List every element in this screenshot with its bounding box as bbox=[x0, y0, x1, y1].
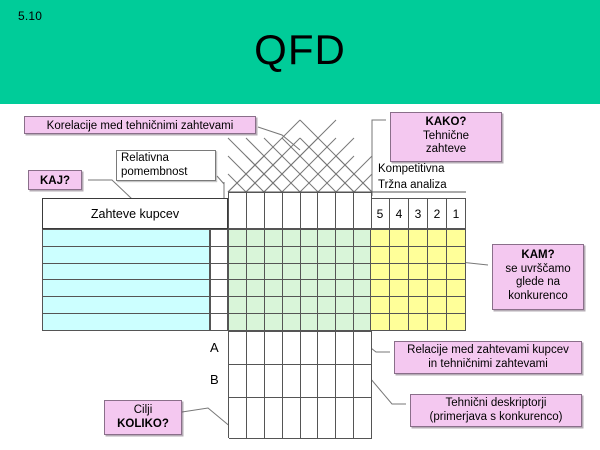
relationship-cell[interactable] bbox=[265, 247, 283, 264]
relationship-cell[interactable] bbox=[318, 314, 336, 331]
tech-col-header-cell bbox=[354, 193, 372, 229]
customer-row[interactable] bbox=[43, 280, 210, 297]
competitive-cell[interactable] bbox=[447, 297, 466, 314]
competitive-cell[interactable] bbox=[409, 230, 428, 247]
relationship-cell[interactable] bbox=[336, 264, 354, 281]
customer-requirements-label: Zahteve kupcev bbox=[91, 207, 179, 221]
relationship-cell[interactable] bbox=[283, 264, 301, 281]
callout-what-label: KAJ? bbox=[40, 175, 70, 187]
relationship-cell[interactable] bbox=[336, 314, 354, 331]
competitive-cell[interactable] bbox=[428, 314, 447, 331]
relationship-cell[interactable] bbox=[247, 264, 265, 281]
descriptor-cell[interactable] bbox=[354, 365, 372, 398]
callout-where-line2: se uvrščamo bbox=[498, 263, 578, 277]
competitive-cell[interactable] bbox=[390, 297, 409, 314]
competitive-cell[interactable] bbox=[371, 280, 390, 297]
customer-row[interactable] bbox=[43, 297, 210, 314]
relationship-cell[interactable] bbox=[247, 314, 265, 331]
market-analysis-line1: Kompetitivna bbox=[378, 162, 444, 176]
relationship-cell[interactable] bbox=[301, 280, 319, 297]
tech-col-header-cell bbox=[336, 193, 354, 229]
relationship-cell[interactable] bbox=[265, 297, 283, 314]
callout-how-line1: KAKO? bbox=[396, 116, 496, 130]
relationship-cell[interactable] bbox=[301, 314, 319, 331]
relationship-matrix[interactable] bbox=[228, 229, 372, 331]
relationship-cell[interactable] bbox=[301, 247, 319, 264]
descriptor-cell[interactable] bbox=[265, 398, 283, 439]
customer-row[interactable] bbox=[43, 314, 210, 331]
descriptor-cell[interactable] bbox=[336, 332, 354, 365]
competitive-cell[interactable] bbox=[447, 264, 466, 281]
descriptor-cell[interactable] bbox=[318, 398, 336, 439]
descriptor-cell[interactable] bbox=[229, 365, 247, 398]
descriptor-cell[interactable] bbox=[229, 398, 247, 439]
competitive-cell[interactable] bbox=[428, 280, 447, 297]
competitive-cell[interactable] bbox=[447, 247, 466, 264]
callout-correlations-label: Korelacije med tehničnimi zahtevami bbox=[47, 120, 234, 132]
callout-descriptors-line2: (primerjava s konkurenco) bbox=[416, 411, 576, 425]
relationship-cell[interactable] bbox=[336, 280, 354, 297]
competitive-cell[interactable] bbox=[409, 247, 428, 264]
descriptor-cell[interactable] bbox=[283, 398, 301, 439]
competitive-cell[interactable] bbox=[390, 264, 409, 281]
relative-importance-line1: Relativna bbox=[121, 152, 211, 166]
competitive-cell[interactable] bbox=[371, 264, 390, 281]
descriptor-cell[interactable] bbox=[354, 398, 372, 439]
importance-cell[interactable] bbox=[211, 280, 228, 297]
page-title: QFD bbox=[0, 26, 600, 74]
callout-how[interactable]: KAKO? Tehnične zahteve bbox=[390, 112, 502, 162]
relative-importance-line2: pomembnost bbox=[121, 166, 211, 180]
rating-cell: 4 bbox=[390, 199, 409, 229]
competitive-cell[interactable] bbox=[447, 230, 466, 247]
rating-cell: 3 bbox=[409, 199, 428, 229]
descriptor-cell[interactable] bbox=[354, 332, 372, 365]
competitive-cell[interactable] bbox=[428, 297, 447, 314]
relationship-cell[interactable] bbox=[318, 264, 336, 281]
callout-goals[interactable]: Cilji KOLIKO? bbox=[104, 400, 182, 435]
tech-col-header-cell bbox=[301, 193, 319, 229]
relationship-cell[interactable] bbox=[229, 280, 247, 297]
callout-goals-line2: KOLIKO? bbox=[110, 418, 176, 432]
callout-descriptors[interactable]: Tehnični deskriptorji (primerjava s konk… bbox=[410, 394, 582, 427]
competitive-cell[interactable] bbox=[428, 247, 447, 264]
callout-relations-line2: in tehničnimi zahtevami bbox=[400, 358, 576, 372]
competitive-cell[interactable] bbox=[409, 314, 428, 331]
relationship-cell[interactable] bbox=[247, 297, 265, 314]
competitive-cell[interactable] bbox=[409, 280, 428, 297]
descriptor-cell[interactable] bbox=[318, 332, 336, 365]
relationship-cell[interactable] bbox=[229, 297, 247, 314]
descriptor-cell[interactable] bbox=[247, 398, 265, 439]
rating-cell: 2 bbox=[428, 199, 447, 229]
relationship-cell[interactable] bbox=[265, 264, 283, 281]
callout-relations-line1: Relacije med zahtevami kupcev bbox=[400, 344, 576, 358]
callout-where[interactable]: KAM? se uvrščamo glede na konkurenco bbox=[492, 244, 584, 310]
descriptor-cell[interactable] bbox=[336, 365, 354, 398]
customer-row[interactable] bbox=[43, 264, 210, 281]
relationship-cell[interactable] bbox=[283, 230, 301, 247]
slide-number: 5.10 bbox=[18, 9, 42, 23]
relationship-cell[interactable] bbox=[318, 230, 336, 247]
relationship-cell[interactable] bbox=[318, 297, 336, 314]
rating-cell: 5 bbox=[371, 199, 390, 229]
competitive-cell[interactable] bbox=[409, 264, 428, 281]
relationship-cell[interactable] bbox=[247, 247, 265, 264]
descriptor-cell[interactable] bbox=[283, 365, 301, 398]
callout-where-line3: glede na bbox=[498, 276, 578, 290]
competitive-cell[interactable] bbox=[371, 247, 390, 264]
callout-descriptors-line1: Tehnični deskriptorji bbox=[416, 397, 576, 411]
callout-correlations[interactable]: Korelacije med tehničnimi zahtevami bbox=[24, 116, 256, 134]
relationship-cell[interactable] bbox=[283, 280, 301, 297]
descriptor-cell[interactable] bbox=[301, 398, 319, 439]
descriptor-cell[interactable] bbox=[336, 398, 354, 439]
importance-cell[interactable] bbox=[211, 264, 228, 281]
competitive-cell[interactable] bbox=[428, 264, 447, 281]
competitive-cell[interactable] bbox=[371, 314, 390, 331]
relationship-cell[interactable] bbox=[283, 314, 301, 331]
relationship-cell[interactable] bbox=[265, 230, 283, 247]
competitive-cell[interactable] bbox=[390, 230, 409, 247]
competitive-assessment-matrix[interactable] bbox=[370, 229, 466, 331]
callout-relative-importance[interactable]: Relativna pomembnost bbox=[116, 150, 216, 181]
customer-row[interactable] bbox=[43, 230, 210, 247]
relative-importance-column-header bbox=[210, 198, 228, 229]
competitive-cell[interactable] bbox=[428, 230, 447, 247]
descriptor-cell[interactable] bbox=[301, 365, 319, 398]
relationship-cell[interactable] bbox=[229, 247, 247, 264]
relationship-cell[interactable] bbox=[229, 314, 247, 331]
callout-goals-line1: Cilji bbox=[110, 404, 176, 418]
tech-col-header-cell bbox=[265, 193, 283, 229]
competitive-cell[interactable] bbox=[390, 247, 409, 264]
callout-where-line4: konkurenco bbox=[498, 290, 578, 304]
descriptor-cell[interactable] bbox=[301, 332, 319, 365]
competitive-cell[interactable] bbox=[371, 297, 390, 314]
relationship-cell[interactable] bbox=[283, 247, 301, 264]
relationship-cell[interactable] bbox=[336, 230, 354, 247]
relationship-cell[interactable] bbox=[247, 280, 265, 297]
tech-col-header-cell bbox=[283, 193, 301, 229]
customer-row[interactable] bbox=[43, 247, 210, 264]
descriptor-cell[interactable] bbox=[318, 365, 336, 398]
bottom-row-label-b: B bbox=[210, 372, 219, 387]
importance-cell[interactable] bbox=[211, 230, 228, 247]
descriptor-cell[interactable] bbox=[247, 332, 265, 365]
relationship-cell[interactable] bbox=[229, 230, 247, 247]
callout-what[interactable]: KAJ? bbox=[28, 170, 82, 190]
callout-relations[interactable]: Relacije med zahtevami kupcev in tehničn… bbox=[394, 341, 582, 374]
importance-cell[interactable] bbox=[211, 314, 228, 331]
importance-cell[interactable] bbox=[211, 247, 228, 264]
customer-requirements-rows[interactable] bbox=[42, 229, 210, 331]
competitive-cell[interactable] bbox=[371, 230, 390, 247]
relationship-cell[interactable] bbox=[318, 247, 336, 264]
descriptor-cell[interactable] bbox=[265, 365, 283, 398]
relationship-cell[interactable] bbox=[318, 280, 336, 297]
rating-cell: 1 bbox=[447, 199, 466, 229]
tech-col-header-cell bbox=[229, 193, 247, 229]
competitive-cell[interactable] bbox=[447, 314, 466, 331]
competitive-cell[interactable] bbox=[409, 297, 428, 314]
technical-descriptors-grid[interactable] bbox=[228, 331, 372, 438]
relative-importance-column[interactable] bbox=[210, 229, 228, 331]
relationship-cell[interactable] bbox=[336, 297, 354, 314]
callout-how-line3: zahteve bbox=[396, 143, 496, 157]
relationship-cell[interactable] bbox=[265, 280, 283, 297]
competitive-cell[interactable] bbox=[390, 280, 409, 297]
callout-where-line1: KAM? bbox=[498, 249, 578, 263]
relationship-cell[interactable] bbox=[336, 247, 354, 264]
rating-scale-row: 5 4 3 2 1 bbox=[370, 198, 466, 229]
bottom-row-label-a: A bbox=[210, 340, 219, 355]
relationship-cell[interactable] bbox=[247, 230, 265, 247]
qfd-slide: 5.10 QFD bbox=[0, 0, 600, 450]
relationship-cell[interactable] bbox=[283, 297, 301, 314]
descriptor-cell[interactable] bbox=[283, 332, 301, 365]
relationship-cell[interactable] bbox=[265, 314, 283, 331]
tech-col-header-cell bbox=[318, 193, 336, 229]
importance-cell[interactable] bbox=[211, 297, 228, 314]
callout-how-line2: Tehnične bbox=[396, 130, 496, 144]
relationship-cell[interactable] bbox=[301, 297, 319, 314]
descriptor-cell[interactable] bbox=[265, 332, 283, 365]
relationship-cell[interactable] bbox=[229, 264, 247, 281]
tech-col-header-cell bbox=[247, 193, 265, 229]
relationship-cell[interactable] bbox=[301, 230, 319, 247]
descriptor-cell[interactable] bbox=[247, 365, 265, 398]
market-analysis-line2: Tržna analiza bbox=[378, 178, 447, 192]
descriptor-cell[interactable] bbox=[229, 332, 247, 365]
technical-columns-header bbox=[228, 192, 372, 229]
customer-requirements-header: Zahteve kupcev bbox=[42, 198, 228, 229]
relationship-cell[interactable] bbox=[301, 264, 319, 281]
competitive-cell[interactable] bbox=[390, 314, 409, 331]
competitive-cell[interactable] bbox=[447, 280, 466, 297]
